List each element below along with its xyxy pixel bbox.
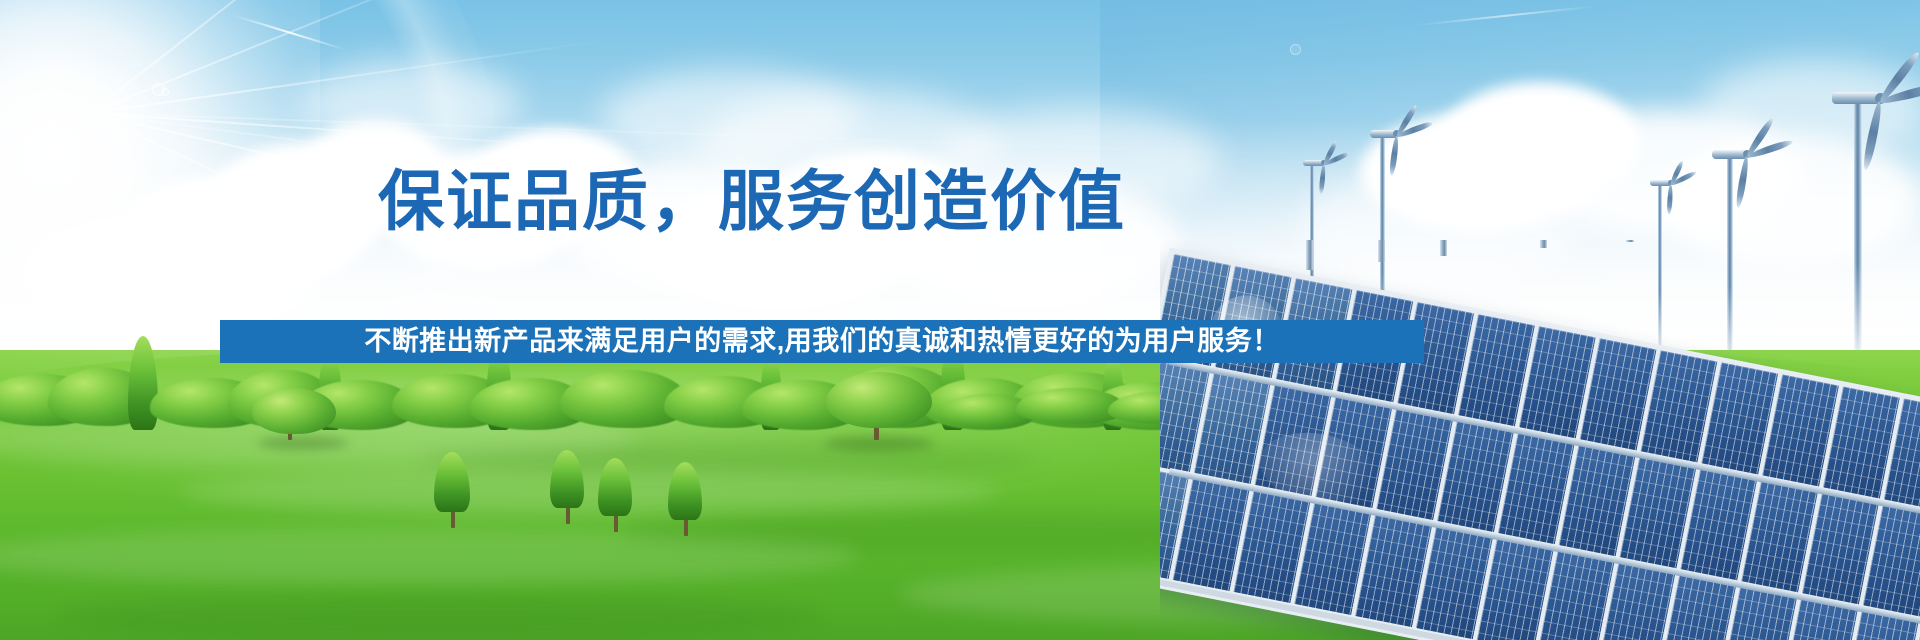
subtitle-bar: 不断推出新产品来满足用户的需求,用我们的真诚和热情更好的为用户服务！ [220, 320, 1424, 363]
tree-shadow [258, 436, 348, 450]
round-tree [826, 372, 932, 428]
mow-stripe [420, 442, 1040, 476]
support-post [1440, 240, 1447, 256]
page-title: 保证品质，服务创造价值 [378, 168, 1126, 234]
tree-shadow [824, 436, 934, 451]
round-tree [252, 388, 336, 434]
support-post [1378, 240, 1385, 262]
lens-flare-dot [1290, 44, 1301, 55]
solar-panel-array [1160, 240, 1920, 640]
lens-flare-dot [161, 88, 169, 96]
support-post [1306, 240, 1313, 270]
mow-stripe [180, 468, 1000, 516]
panel-grid [1160, 248, 1920, 640]
mow-stripe [60, 596, 820, 640]
hero-banner: 保证品质，服务创造价值 不断推出新产品来满足用户的需求,用我们的真诚和热情更好的… [0, 0, 1920, 640]
support-post [1626, 240, 1634, 242]
subtitle-text: 不断推出新产品来满足用户的需求,用我们的真诚和热情更好的为用户服务！ [364, 328, 1280, 355]
support-post [1540, 240, 1547, 248]
